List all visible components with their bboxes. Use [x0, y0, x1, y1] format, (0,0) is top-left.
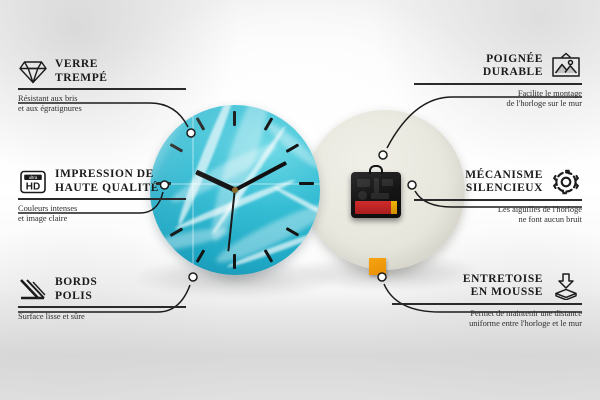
ultra-label: ultra	[29, 175, 38, 180]
feature-header: MÉCANISME SILENCIEUX	[414, 168, 582, 196]
polished-edges-icon	[18, 277, 48, 303]
feature-entretoise-en-mousse[interactable]: ENTRETOISE EN MOUSSE Permet de maintenir…	[392, 272, 582, 329]
feature-desc-line2: ne font aucun bruit	[414, 215, 582, 225]
feature-divider	[392, 303, 582, 305]
feature-title-line1: POIGNÉE	[483, 53, 543, 67]
foam-spacer-icon	[550, 272, 582, 300]
feature-divider	[18, 306, 186, 308]
feature-title-line1: IMPRESSION DE	[55, 168, 159, 182]
feature-desc-line1: Les aiguilles de l'horloge	[414, 205, 582, 215]
feature-desc-line1: Facilite le montage	[414, 89, 582, 99]
feature-desc-line1: Résistant aux bris	[18, 94, 186, 104]
feature-mecanisme-silencieux[interactable]: MÉCANISME SILENCIEUX Les aiguilles de l'…	[414, 168, 582, 225]
feature-title-line2: POLIS	[55, 290, 97, 304]
infographic-canvas: VERRE TREMPÉ Résistant aux bris et aux é…	[0, 0, 600, 400]
feature-desc-line1: Permet de maintenir une distance	[392, 309, 582, 319]
feature-title-line1: BORDS	[55, 276, 97, 290]
feature-desc-line2: uniforme entre l'horloge et le mur	[392, 319, 582, 329]
feature-title-line2: EN MOUSSE	[463, 286, 543, 300]
feature-desc-line2: de l'horloge sur le mur	[414, 99, 582, 109]
feature-header: POIGNÉE DURABLE	[414, 52, 582, 80]
feature-title-line2: DURABLE	[483, 66, 543, 80]
feature-title-line2: SILENCIEUX	[465, 182, 543, 196]
feature-desc-line2: et image claire	[18, 214, 186, 224]
ultra-hd-icon: ultra HD	[18, 169, 48, 195]
feature-header: BORDS POLIS	[18, 276, 186, 303]
feature-impression-haute-qualite[interactable]: ultra HD IMPRESSION DE HAUTE QUALITÉ Cou…	[18, 168, 186, 224]
feature-divider	[18, 88, 186, 90]
hd-label: HD	[26, 181, 40, 192]
feature-header: ENTRETOISE EN MOUSSE	[392, 272, 582, 300]
feature-header: VERRE TREMPÉ	[18, 58, 186, 85]
feature-verre-trempe[interactable]: VERRE TREMPÉ Résistant aux bris et aux é…	[18, 58, 186, 114]
feature-divider	[414, 199, 582, 201]
picture-frame-icon	[550, 52, 582, 80]
feature-title-line2: HAUTE QUALITÉ	[55, 182, 159, 196]
feature-divider	[18, 198, 186, 200]
gear-icon	[550, 168, 582, 196]
feature-header: ultra HD IMPRESSION DE HAUTE QUALITÉ	[18, 168, 186, 195]
feature-desc-line1: Surface lisse et sûre	[18, 312, 186, 322]
feature-title-line1: MÉCANISME	[465, 169, 543, 183]
feature-desc-line1: Couleurs intenses	[18, 204, 186, 214]
feature-title-line1: VERRE	[55, 58, 108, 72]
diamond-icon	[18, 59, 48, 85]
feature-divider	[414, 83, 582, 85]
feature-title-line1: ENTRETOISE	[463, 273, 543, 287]
feature-title-line2: TREMPÉ	[55, 72, 108, 86]
feature-desc-line2: et aux égratignures	[18, 104, 186, 114]
feature-poignee-durable[interactable]: POIGNÉE DURABLE Facilite le montage de l…	[414, 52, 582, 109]
feature-bords-polis[interactable]: BORDS POLIS Surface lisse et sûre	[18, 276, 186, 322]
